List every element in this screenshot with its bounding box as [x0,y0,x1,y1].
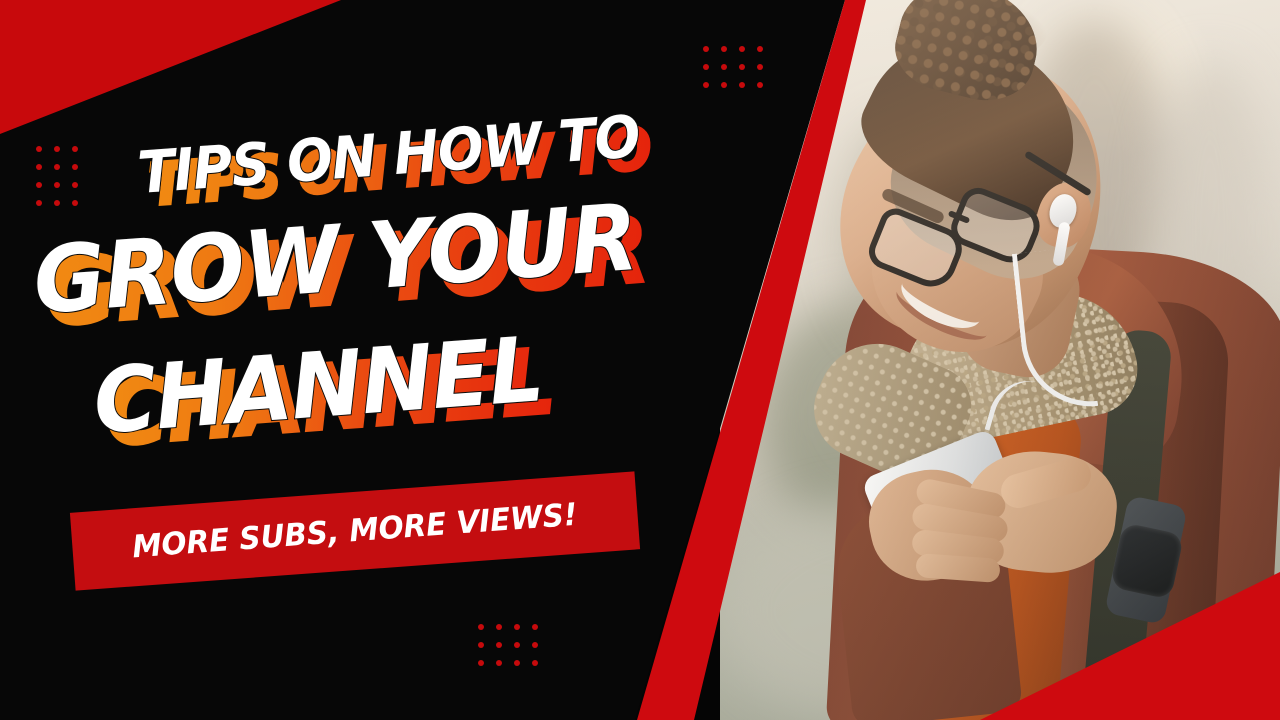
dot [514,642,520,648]
dot [72,146,78,152]
dot [703,46,709,52]
dot [36,146,42,152]
dot [496,660,502,666]
dot [739,82,745,88]
dot [496,624,502,630]
dot [532,660,538,666]
dot [36,182,42,188]
dot [54,164,60,170]
dot [739,64,745,70]
dot [54,146,60,152]
dot [757,64,763,70]
dot [757,46,763,52]
dot [54,200,60,206]
dot-grid-bottom [478,624,538,666]
dot [72,200,78,206]
dot [478,624,484,630]
dot [757,82,763,88]
dot [496,642,502,648]
dot [532,624,538,630]
dot [72,164,78,170]
dot [721,82,727,88]
subtitle-text: MORE SUBS, MORE VIEWS! [131,497,578,566]
dot [514,624,520,630]
dot [721,64,727,70]
dot [739,46,745,52]
dot [72,182,78,188]
dot-grid-left [36,146,78,206]
dot [478,660,484,666]
dot [478,642,484,648]
dot [36,200,42,206]
dot [721,46,727,52]
dot [532,642,538,648]
dot [703,82,709,88]
dot-grid-top-right [703,46,763,88]
dot [514,660,520,666]
dot [54,182,60,188]
youtube-thumbnail: TIPS ON HOW TO TIPS ON HOW TO GROW YOUR … [0,0,1280,720]
dot [703,64,709,70]
dot [36,164,42,170]
